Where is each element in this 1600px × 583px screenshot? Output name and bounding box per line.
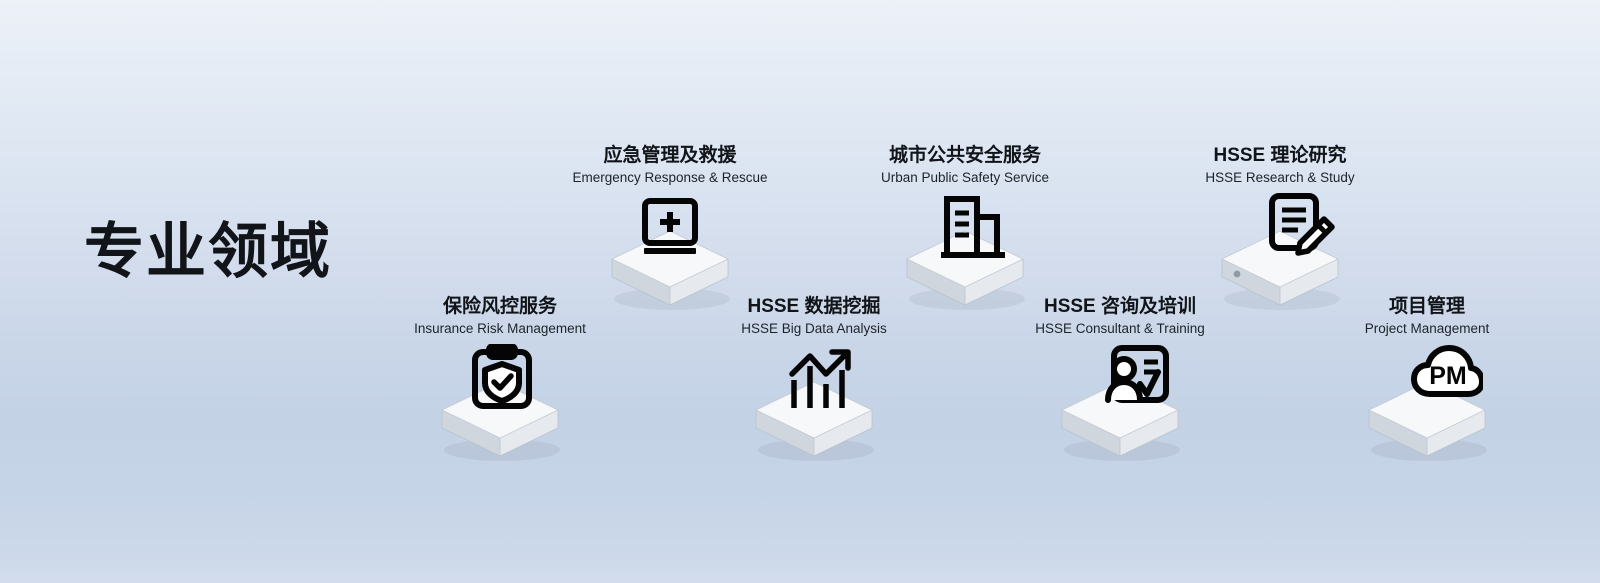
item-title-en: Project Management xyxy=(1297,321,1557,338)
bar-chart-trend-icon xyxy=(784,344,856,416)
item-hsse-big-data-analysis[interactable]: HSSE 数据挖掘 HSSE Big Data Analysis xyxy=(684,296,944,466)
item-title-en: Urban Public Safety Service xyxy=(835,170,1095,187)
item-title-cn: 项目管理 xyxy=(1297,296,1557,318)
item-title-en: HSSE Research & Study xyxy=(1150,170,1410,187)
item-title-cn: 城市公共安全服务 xyxy=(835,145,1095,167)
item-artwork xyxy=(990,346,1250,466)
item-title-cn: HSSE 理论研究 xyxy=(1150,145,1410,167)
item-title-cn: 应急管理及救援 xyxy=(540,145,800,167)
item-artwork xyxy=(370,346,630,466)
item-title-en: Emergency Response & Rescue xyxy=(540,170,800,187)
item-project-management[interactable]: 项目管理 Project Management PM xyxy=(1297,296,1557,466)
city-buildings-icon xyxy=(937,193,1009,265)
cloud-pm-label: PM xyxy=(1429,362,1467,390)
person-badge-check-icon xyxy=(1102,344,1174,416)
item-hsse-consultant-training[interactable]: HSSE 咨询及培训 HSSE Consultant & Training xyxy=(990,296,1250,466)
document-pencil-icon xyxy=(1264,191,1336,263)
first-aid-kit-icon xyxy=(634,193,706,265)
item-hsse-research-study[interactable]: HSSE 理论研究 HSSE Research & Study xyxy=(1150,145,1410,315)
item-title-en: HSSE Consultant & Training xyxy=(990,321,1250,338)
page-title: 专业领域 xyxy=(84,222,332,282)
item-title-cn: HSSE 数据挖掘 xyxy=(684,296,944,318)
item-artwork: PM xyxy=(1297,346,1557,466)
clipboard-shield-check-icon xyxy=(466,344,538,416)
item-title-en: HSSE Big Data Analysis xyxy=(684,321,944,338)
item-insurance-risk-management[interactable]: 保险风控服务 Insurance Risk Management xyxy=(370,296,630,466)
item-title-cn: 保险风控服务 xyxy=(370,296,630,318)
cloud-pm-icon: PM xyxy=(1411,342,1483,414)
item-urban-public-safety-service[interactable]: 城市公共安全服务 Urban Public Safety Service xyxy=(835,145,1095,315)
item-emergency-response-rescue[interactable]: 应急管理及救援 Emergency Response & Rescue xyxy=(540,145,800,315)
item-artwork xyxy=(684,346,944,466)
item-title-cn: HSSE 咨询及培训 xyxy=(990,296,1250,318)
professional-fields-banner: 专业领域 应急管理及救援 Emergency Response & Rescue xyxy=(0,0,1600,583)
item-title-en: Insurance Risk Management xyxy=(370,321,630,338)
